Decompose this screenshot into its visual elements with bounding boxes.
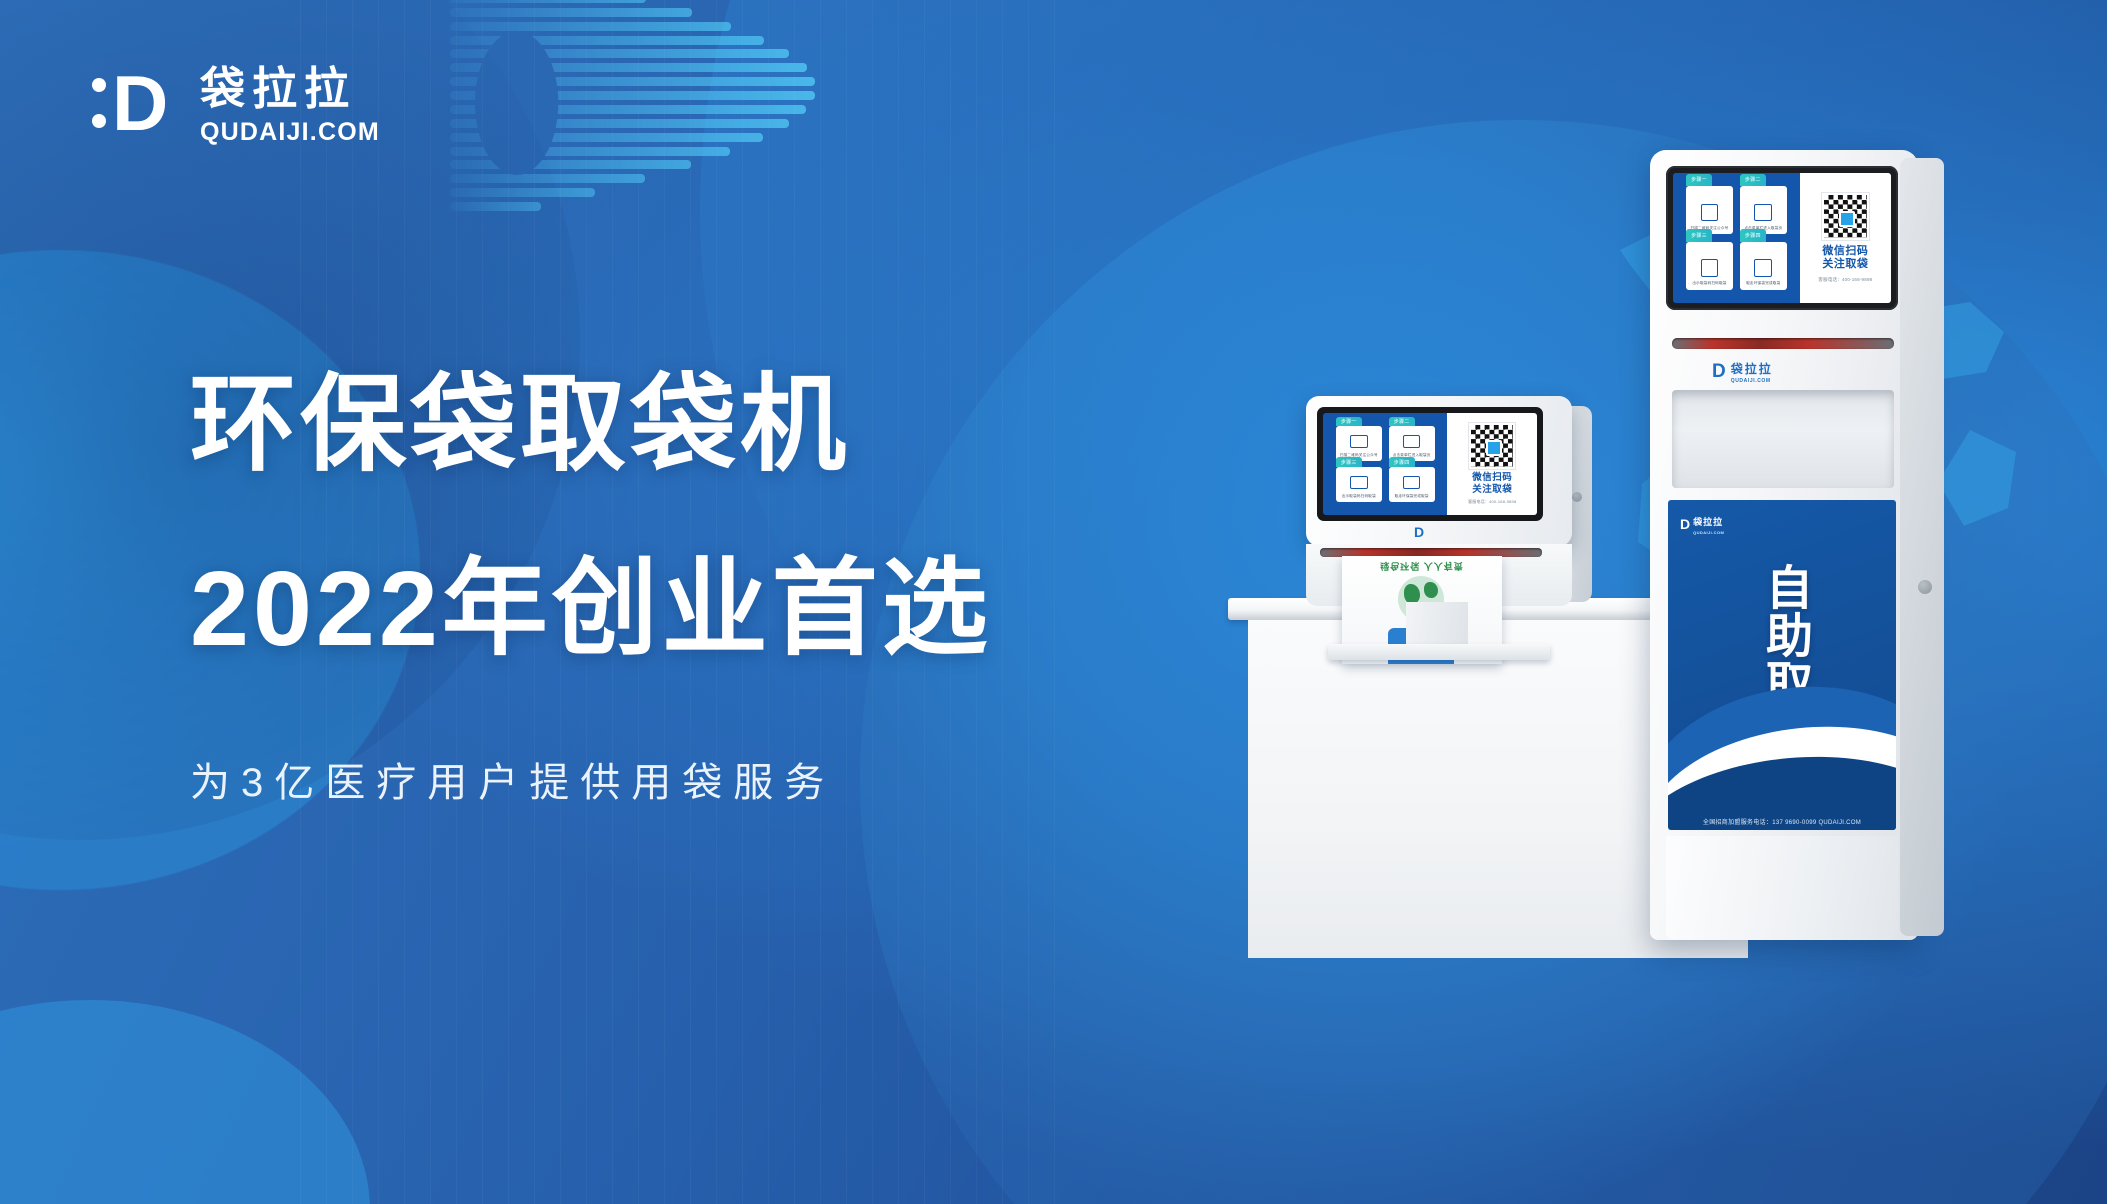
phone-scan-icon xyxy=(1350,435,1368,448)
step-tab-label: 步骤一 xyxy=(1686,174,1712,187)
kiosk-screen-ui[interactable]: 步骤一 扫描二维码关注公众号 步骤二 点击菜单栏进入取袋页 步骤三 xyxy=(1323,413,1537,515)
qr-panel: 微信扫码 关注取袋 客服电话：400-168-9898 xyxy=(1800,173,1891,303)
check-circle-icon xyxy=(1403,476,1421,489)
striped-globe-motif xyxy=(450,0,820,218)
step-card[interactable]: 步骤一 扫描二维码关注公众号 xyxy=(1336,426,1382,462)
kiosk-tall-base xyxy=(1666,836,1898,940)
step-card[interactable]: 步骤二 点击菜单栏进入取袋页 xyxy=(1740,186,1787,234)
qr-support-text: 客服电话：400-168-9898 xyxy=(1468,499,1516,505)
step-tab-label: 步骤四 xyxy=(1389,457,1415,466)
hand-tap-icon xyxy=(1754,204,1772,221)
step-tab-label: 步骤二 xyxy=(1740,174,1766,187)
logo-name-cn: 袋拉拉 xyxy=(200,66,380,111)
product-scene: 步骤一 扫描二维码关注公众号 步骤二 点击菜单栏进入取袋页 步骤三 xyxy=(1180,150,2080,1050)
kiosk-logo-domain: QUDAIJI.COM xyxy=(1731,378,1773,384)
wechat-qr-code-icon[interactable] xyxy=(1822,193,1869,240)
step-tab-label: 步骤一 xyxy=(1336,417,1362,426)
desktop-kiosk-base-plate xyxy=(1328,644,1550,660)
poster-brand-logo: D 袋拉拉 QUDAIJI.COM xyxy=(1680,512,1724,535)
kiosk-tall-poster: D 袋拉拉 QUDAIJI.COM 自助取袋机 全国招商加盟服务电话：137 9… xyxy=(1668,500,1896,830)
promo-banner: D 袋拉拉 QUDAIJI.COM 环保袋取袋机 2022年创业首选 为3亿医疗… xyxy=(0,0,2107,1204)
kiosk-tall-display[interactable]: 步骤一 扫描二维码关注公众号 步骤二 点击菜单栏进入取袋页 步骤三 xyxy=(1666,166,1898,310)
kiosk-screen-ui[interactable]: 步骤一 扫描二维码关注公众号 步骤二 点击菜单栏进入取袋页 步骤三 xyxy=(1673,173,1891,303)
step-card[interactable]: 步骤二 点击菜单栏进入取袋页 xyxy=(1389,426,1435,462)
qr-cta: 微信扫码 关注取袋 xyxy=(1472,472,1512,496)
step-label: 取走环保袋完成取袋 xyxy=(1395,494,1429,499)
step-card[interactable]: 步骤四 取走环保袋完成取袋 xyxy=(1389,467,1435,503)
poster-logo-name: 袋拉拉 xyxy=(1693,517,1723,527)
qr-cta-line2: 关注取袋 xyxy=(1822,258,1868,272)
step-card[interactable]: 步骤三 出示取袋码扫码取袋 xyxy=(1336,467,1382,503)
wechat-qr-code-icon[interactable] xyxy=(1469,423,1515,469)
step-card[interactable]: 步骤一 扫描二维码关注公众号 xyxy=(1686,186,1733,234)
floor-standing-kiosk: 步骤一 扫描二维码关注公众号 步骤二 点击菜单栏进入取袋页 步骤三 xyxy=(1650,150,1950,940)
logo-letter-d: D xyxy=(112,72,166,136)
kiosk-tall-dispense-slot xyxy=(1672,338,1894,349)
qr-cta-line1: 微信扫码 xyxy=(1822,245,1868,259)
logo-wordmark: 袋拉拉 QUDAIJI.COM xyxy=(200,62,380,145)
eco-bag-slogan: 绿色环保 人人有责 xyxy=(1342,560,1502,573)
step-card[interactable]: 步骤三 出示取袋码扫码取袋 xyxy=(1686,242,1733,290)
desktop-kiosk-stand-neck xyxy=(1406,602,1468,648)
step-label: 出示取袋码扫码取袋 xyxy=(1342,494,1376,499)
desktop-kiosk-brand-mark: D xyxy=(1414,524,1423,540)
qr-code-icon xyxy=(1701,259,1719,276)
kiosk-tall-brand-logo: D 袋拉拉 QUDAIJI.COM xyxy=(1712,360,1773,384)
phone-scan-icon xyxy=(1701,204,1719,221)
desktop-kiosk-display[interactable]: 步骤一 扫描二维码关注公众号 步骤二 点击菜单栏进入取袋页 步骤三 xyxy=(1317,407,1543,521)
poster-footnote: 全国招商加盟服务电话：137 9690-0099 QUDAIJI.COM xyxy=(1668,817,1896,826)
kiosk-tall-side-panel xyxy=(1900,158,1944,936)
headline-secondary: 2022年创业首选 xyxy=(190,554,1190,664)
hand-tap-icon xyxy=(1403,435,1421,448)
kiosk-logo-mark: D xyxy=(1712,361,1725,383)
poster-logo-mark: D xyxy=(1680,516,1689,532)
steps-panel: 步骤一 扫描二维码关注公众号 步骤二 点击菜单栏进入取袋页 步骤三 xyxy=(1673,173,1800,303)
brand-logo: D 袋拉拉 QUDAIJI.COM xyxy=(92,62,380,145)
kiosk-tall-side-port-icon xyxy=(1918,580,1932,594)
poster-logo-domain: QUDAIJI.COM xyxy=(1693,530,1724,535)
qr-cta-line2: 关注取袋 xyxy=(1472,484,1512,496)
qr-code-icon xyxy=(1350,476,1368,489)
desktop-kiosk: 步骤一 扫描二维码关注公众号 步骤二 点击菜单栏进入取袋页 步骤三 xyxy=(1306,396,1602,664)
step-tab-label: 步骤二 xyxy=(1389,417,1415,426)
logo-mark-icon: D xyxy=(92,62,178,144)
step-label: 出示取袋码扫码取袋 xyxy=(1692,281,1726,286)
step-card[interactable]: 步骤四 取走环保袋完成取袋 xyxy=(1740,242,1787,290)
step-label: 取走环保袋完成取袋 xyxy=(1746,281,1780,286)
hero-subheadline: 为3亿医疗用户提供用袋服务 xyxy=(190,750,1190,808)
qr-cta: 微信扫码 关注取袋 xyxy=(1822,245,1868,273)
desktop-kiosk-side-port-icon xyxy=(1572,492,1582,502)
kiosk-logo-name: 袋拉拉 xyxy=(1731,362,1773,376)
logo-domain: QUDAIJI.COM xyxy=(200,120,380,145)
qr-panel: 微信扫码 关注取袋 客服电话：400-168-9898 xyxy=(1447,413,1537,515)
step-tab-label: 步骤三 xyxy=(1686,229,1712,242)
hero-copy: 环保袋取袋机 2022年创业首选 为3亿医疗用户提供用袋服务 xyxy=(190,370,1190,808)
qr-support-text: 客服电话：400-168-9898 xyxy=(1818,277,1872,283)
steps-panel: 步骤一 扫描二维码关注公众号 步骤二 点击菜单栏进入取袋页 步骤三 xyxy=(1323,413,1447,515)
step-tab-label: 步骤四 xyxy=(1740,229,1766,242)
check-circle-icon xyxy=(1754,259,1772,276)
qr-cta-line1: 微信扫码 xyxy=(1472,472,1512,484)
step-tab-label: 步骤三 xyxy=(1336,457,1362,466)
headline-primary: 环保袋取袋机 xyxy=(190,370,1190,480)
kiosk-tall-pickup-recess xyxy=(1672,390,1894,488)
